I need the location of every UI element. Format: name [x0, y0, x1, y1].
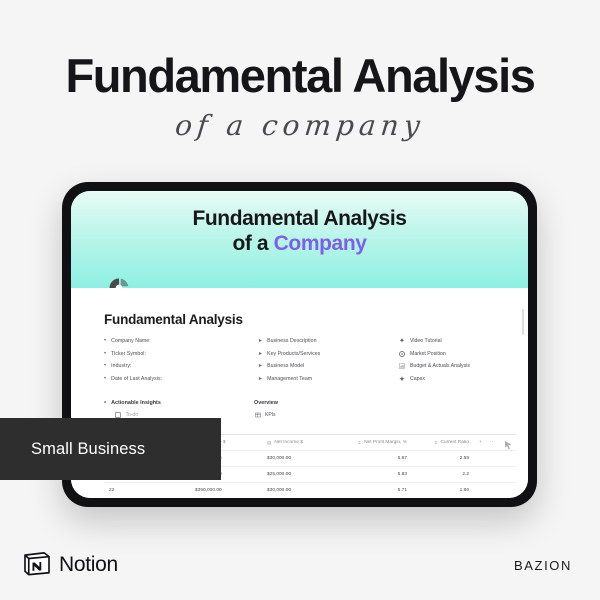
- checkbox-icon[interactable]: [115, 412, 121, 418]
- cell-net-income: $25,000.00: [262, 472, 334, 477]
- column-header-label: Net Income $: [274, 440, 303, 445]
- list-item-label: Management Team: [267, 376, 312, 382]
- cell-margin: 5.71: [334, 488, 412, 493]
- sigma-icon: Σ: [435, 440, 438, 445]
- bullet-dot-icon: ▸: [259, 338, 262, 344]
- list-item-label: Key Products/Services: [267, 351, 320, 357]
- actionable-insights-label: Actionable Insights: [111, 400, 161, 406]
- chart-icon: [399, 363, 405, 369]
- publisher-name: BAZION: [514, 558, 572, 573]
- cover-title-line1: Fundamental Analysis: [71, 207, 528, 232]
- cover-title-line2: of a Company: [71, 232, 528, 257]
- column-header-net-profit-margin[interactable]: Σ Net Profit Margin, %: [334, 440, 412, 445]
- list-item[interactable]: • Ticker Symbol:: [104, 351, 259, 357]
- column-header-label: Net Profit Margin, %: [364, 440, 407, 445]
- cell-margin: 6.67: [334, 456, 412, 461]
- list-item[interactable]: • Industry:: [104, 363, 259, 369]
- cell-ratio: 2.2: [412, 472, 474, 477]
- sigma-icon: Σ: [358, 440, 361, 445]
- cell-ratio: 1.86: [412, 488, 474, 493]
- calendar-icon: ▤: [267, 440, 271, 446]
- actionable-insights-heading: • Actionable Insights: [104, 400, 254, 406]
- list-item-budget-actuals[interactable]: Budget & Actuals Analysis: [399, 363, 500, 369]
- bullet-dot-icon: ▸: [259, 351, 262, 357]
- list-item-label: Ticker Symbol:: [111, 351, 146, 357]
- brand-lockup: Notion: [22, 548, 118, 583]
- overview-item-label: KPIs: [265, 412, 276, 418]
- bullet-dot-icon: •: [104, 363, 106, 369]
- list-item-label: Company Name:: [111, 338, 151, 344]
- cell-investment: 22: [104, 488, 190, 493]
- list-item-label: Business Model: [267, 363, 304, 369]
- cover-title-wrap: Fundamental Analysis of a Company: [71, 191, 528, 257]
- page-title: Fundamental Analysis: [0, 52, 600, 101]
- cursor-icon: [505, 437, 512, 446]
- column-header-current-ratio[interactable]: Σ Current Ratio: [412, 440, 474, 445]
- category-ribbon-label: Small Business: [31, 440, 145, 459]
- list-item[interactable]: ▸ Management Team: [259, 376, 399, 382]
- headline-subtitle: of a company: [0, 109, 600, 142]
- list-item-label: Capex: [410, 376, 425, 382]
- headline-area: Fundamental Analysis of a company: [0, 52, 600, 142]
- target-icon: [399, 351, 405, 357]
- plus-icon: +: [479, 440, 482, 445]
- list-item-market-position[interactable]: Market Position: [399, 351, 500, 357]
- overview-heading: Overview: [254, 400, 500, 406]
- table-icon: [255, 412, 261, 418]
- list-item-label: Business Description: [267, 338, 316, 344]
- cell-ratio: 2.59: [412, 456, 474, 461]
- cell-net-income: $30,000.00: [262, 488, 334, 493]
- list-item-label: Budget & Actuals Analysis: [410, 363, 470, 369]
- list-item-label: Industry:: [111, 363, 131, 369]
- list-item[interactable]: ▸ Business Model: [259, 363, 399, 369]
- notion-cover-banner: Fundamental Analysis of a Company: [71, 191, 528, 288]
- bullet-dot-icon: •: [104, 338, 106, 344]
- sparkle-icon: [399, 338, 405, 344]
- list-item-label: Market Position: [410, 351, 446, 357]
- bullet-dot-icon: ▸: [259, 363, 262, 369]
- footer: Notion BAZION: [0, 538, 600, 600]
- list-item[interactable]: ▸ Key Products/Services: [259, 351, 399, 357]
- overview-block: Overview KPIs: [254, 400, 500, 434]
- cover-line2-prefix: of a: [232, 232, 273, 255]
- list-item[interactable]: ▸ Business Description: [259, 338, 399, 344]
- list-item-label: Video Tutorial: [410, 338, 442, 344]
- bullet-dot-icon: ▸: [259, 376, 262, 382]
- notion-logo-icon: [22, 548, 52, 583]
- bullet-dot-icon: •: [104, 376, 106, 382]
- property-columns: • Company Name: • Ticker Symbol: • Indus…: [104, 338, 500, 388]
- bullet-dot-icon: •: [104, 400, 106, 406]
- list-item-capex[interactable]: Capex: [399, 376, 500, 382]
- list-item[interactable]: • Company Name:: [104, 338, 259, 344]
- cell-revenue: $350,000.00: [190, 488, 262, 493]
- column-resources: Video Tutorial Market Position Budget & …: [399, 338, 500, 388]
- brand-name: Notion: [59, 553, 118, 577]
- cell-margin: 5.83: [334, 472, 412, 477]
- table-row[interactable]: 22 $350,000.00 $30,000.00 5.71 1.86: [104, 482, 516, 498]
- page-heading: Fundamental Analysis: [104, 312, 500, 327]
- list-item-label: Date of Last Analysis:: [111, 376, 162, 382]
- star-icon: [399, 376, 405, 382]
- scrollbar-thumb[interactable]: [522, 309, 525, 335]
- bullet-dot-icon: •: [104, 351, 106, 357]
- column-header-net-income[interactable]: ▤ Net Income $: [262, 440, 334, 446]
- more-options-icon[interactable]: ⋯: [490, 440, 495, 445]
- list-item-video-tutorial[interactable]: Video Tutorial: [399, 338, 500, 344]
- cover-line2-accent: Company: [274, 232, 367, 255]
- column-header-label: Current Ratio: [440, 440, 469, 445]
- column-business-profile: ▸ Business Description ▸ Key Products/Se…: [259, 338, 399, 388]
- column-company-facts: • Company Name: • Ticker Symbol: • Indus…: [104, 338, 259, 388]
- category-ribbon: Small Business: [0, 418, 221, 480]
- overview-item-kpis[interactable]: KPIs: [255, 412, 500, 418]
- cell-net-income: $30,000.00: [262, 456, 334, 461]
- overview-label: Overview: [254, 400, 278, 406]
- list-item[interactable]: • Date of Last Analysis:: [104, 376, 259, 382]
